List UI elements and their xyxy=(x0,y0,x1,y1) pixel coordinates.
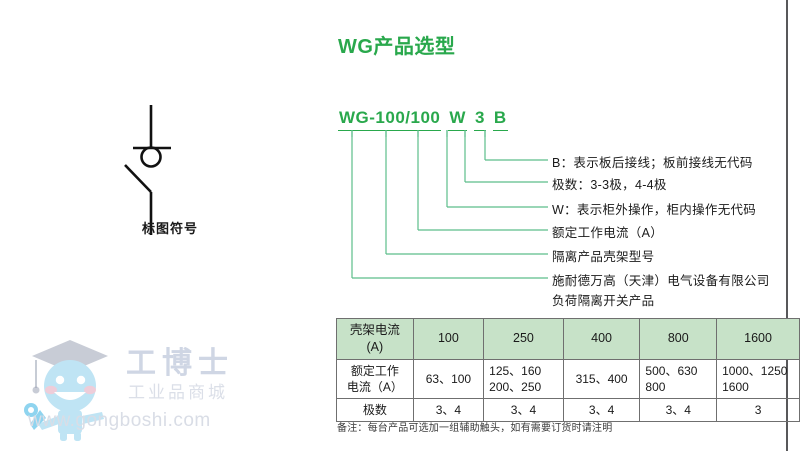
header-col-250: 250 xyxy=(484,319,564,360)
watermark-url: www.gongboshi.com xyxy=(28,410,211,432)
table-header-row: 壳架电流(A) 100 250 400 800 1600 xyxy=(337,319,800,360)
page-title: WG产品选型 xyxy=(338,30,455,59)
cell-poles-1600: 3 xyxy=(717,399,800,422)
code-segment-frame: WG-100/100 xyxy=(338,108,441,131)
annotation-frame-model: 隔离产品壳架型号 xyxy=(552,246,654,265)
specification-table: 壳架电流(A) 100 250 400 800 1600 额定工作 电流（A） … xyxy=(336,318,800,422)
annotation-rated-current: 额定工作电流（A） xyxy=(552,222,663,241)
annotation-b-code: B：表示板后接线；板前接线无代码 xyxy=(552,152,753,171)
header-col-1600: 1600 xyxy=(717,319,800,360)
product-code-row: WG-100/100W3B xyxy=(338,108,508,130)
annotation-pole-count: 极数：3-3极，4-4极 xyxy=(552,174,667,193)
code-segment-w: W xyxy=(448,108,467,131)
watermark: 工博士 工业品商城 www.gongboshi.com xyxy=(18,330,248,445)
header-col-400: 400 xyxy=(563,319,640,360)
row-label-rated-current: 额定工作 电流（A） xyxy=(337,359,414,398)
symbol-caption: 标图符号 xyxy=(95,218,245,237)
product-selection-diagram: WG产品选型 标图符号 WG-100/100W3B xyxy=(0,0,800,451)
cell-rated-1600: 1000、1250 1600 xyxy=(717,359,800,398)
cell-rated-400: 315、400 xyxy=(563,359,640,398)
cell-rated-800: 500、630 800 xyxy=(640,359,717,398)
watermark-subtitle: 工业品商城 xyxy=(128,378,228,403)
cell-poles-800: 3、4 xyxy=(640,399,717,422)
table-row: 额定工作 电流（A） 63、100 125、160 200、250 315、40… xyxy=(337,359,800,398)
table-footnote: 备注：每台产品可选加一组辅助触头，如有需要订货时请注明 xyxy=(337,419,612,434)
cell-rated-100: 63、100 xyxy=(413,359,484,398)
header-col-100: 100 xyxy=(413,319,484,360)
code-segment-b: B xyxy=(493,108,508,131)
cell-rated-250: 125、160 200、250 xyxy=(484,359,564,398)
watermark-brand: 工博士 xyxy=(126,338,234,382)
annotation-company: 施耐德万高（天津）电气设备有限公司 xyxy=(552,270,770,289)
header-col-800: 800 xyxy=(640,319,717,360)
annotation-w-code: W：表示柜外操作，柜内操作无代码 xyxy=(552,199,756,218)
annotation-product-type: 负荷隔离开关产品 xyxy=(552,290,654,309)
header-frame-current: 壳架电流(A) xyxy=(337,319,414,360)
code-segment-poles: 3 xyxy=(474,108,486,131)
